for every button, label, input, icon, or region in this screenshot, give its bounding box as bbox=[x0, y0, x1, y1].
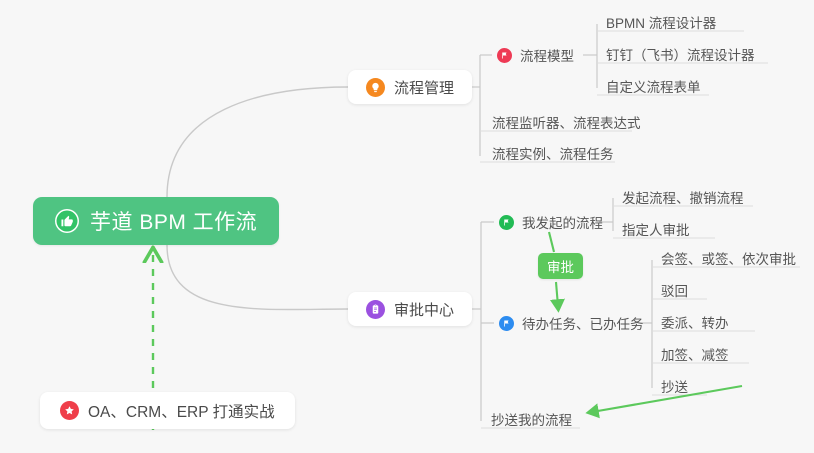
branch-approval-center[interactable]: 审批中心 bbox=[348, 292, 472, 326]
node-start-cancel-label: 发起流程、撤销流程 bbox=[622, 187, 744, 207]
node-process-model-label: 流程模型 bbox=[520, 45, 574, 65]
node-dingtalk-feishu-designer-label: 钉钉（飞书）流程设计器 bbox=[606, 44, 755, 64]
node-cc[interactable]: 抄送 bbox=[656, 373, 694, 399]
node-counter-or-sequential-label: 会签、或签、依次审批 bbox=[661, 248, 796, 268]
node-delegate-transfer[interactable]: 委派、转办 bbox=[656, 309, 735, 335]
approve-arrow-label-text: 审批 bbox=[547, 256, 574, 276]
node-add-remove-sign[interactable]: 加签、减签 bbox=[656, 341, 735, 367]
branch-process-management-label: 流程管理 bbox=[394, 77, 454, 98]
approve-arrow-label[interactable]: 审批 bbox=[538, 253, 583, 279]
node-instance-task[interactable]: 流程实例、流程任务 bbox=[487, 140, 620, 166]
node-todo-done[interactable]: 待办任务、已办任务 bbox=[494, 310, 650, 336]
arrow-approve-upper bbox=[549, 232, 554, 252]
node-delegate-transfer-label: 委派、转办 bbox=[661, 312, 729, 332]
flag-green-icon bbox=[499, 215, 514, 230]
root-label: 芋道 BPM 工作流 bbox=[90, 206, 257, 236]
thumbs-up-icon bbox=[55, 209, 79, 233]
node-cc-to-me[interactable]: 抄送我的流程 bbox=[486, 406, 578, 432]
node-bpmn-designer-label: BPMN 流程设计器 bbox=[606, 12, 716, 32]
node-listener-expression[interactable]: 流程监听器、流程表达式 bbox=[487, 109, 647, 135]
flag-blue-icon bbox=[499, 316, 514, 331]
node-add-remove-sign-label: 加签、减签 bbox=[661, 344, 729, 364]
node-my-initiated-label: 我发起的流程 bbox=[522, 212, 603, 232]
branch-process-management[interactable]: 流程管理 bbox=[348, 70, 472, 104]
node-reject-label: 驳回 bbox=[661, 280, 688, 300]
node-counter-or-sequential[interactable]: 会签、或签、依次审批 bbox=[656, 245, 802, 271]
node-custom-process-form[interactable]: 自定义流程表单 bbox=[601, 73, 707, 99]
node-cc-to-me-label: 抄送我的流程 bbox=[491, 409, 572, 429]
node-listener-expression-label: 流程监听器、流程表达式 bbox=[492, 112, 641, 132]
arrow-approve-lower bbox=[556, 282, 558, 306]
star-icon bbox=[60, 401, 79, 420]
node-my-initiated[interactable]: 我发起的流程 bbox=[494, 209, 609, 235]
flag-pink-icon bbox=[497, 48, 512, 63]
node-instance-task-label: 流程实例、流程任务 bbox=[492, 143, 614, 163]
node-start-cancel[interactable]: 发起流程、撤销流程 bbox=[617, 184, 750, 210]
branch-approval-center-label: 审批中心 bbox=[394, 299, 454, 320]
mindmap-canvas: 芋道 BPM 工作流 流程管理 流程模型 BPMN 流程设计器 钉钉（飞书）流程… bbox=[0, 0, 814, 453]
node-process-model[interactable]: 流程模型 bbox=[492, 42, 580, 68]
node-assignee-approval[interactable]: 指定人审批 bbox=[617, 216, 696, 242]
node-todo-done-label: 待办任务、已办任务 bbox=[522, 313, 644, 333]
node-bpmn-designer[interactable]: BPMN 流程设计器 bbox=[601, 9, 722, 35]
link-root-to-process-management bbox=[167, 87, 348, 197]
root-node[interactable]: 芋道 BPM 工作流 bbox=[33, 197, 279, 245]
node-assignee-approval-label: 指定人审批 bbox=[622, 219, 690, 239]
integration-card[interactable]: OA、CRM、ERP 打通实战 bbox=[40, 392, 295, 429]
node-custom-process-form-label: 自定义流程表单 bbox=[606, 76, 701, 96]
node-cc-label: 抄送 bbox=[661, 376, 688, 396]
integration-card-label: OA、CRM、ERP 打通实战 bbox=[88, 400, 275, 422]
node-dingtalk-feishu-designer[interactable]: 钉钉（飞书）流程设计器 bbox=[601, 41, 761, 67]
node-reject[interactable]: 驳回 bbox=[656, 277, 694, 303]
lightbulb-icon bbox=[366, 78, 385, 97]
link-root-to-approval-center bbox=[167, 245, 348, 310]
clipboard-icon bbox=[366, 300, 385, 319]
